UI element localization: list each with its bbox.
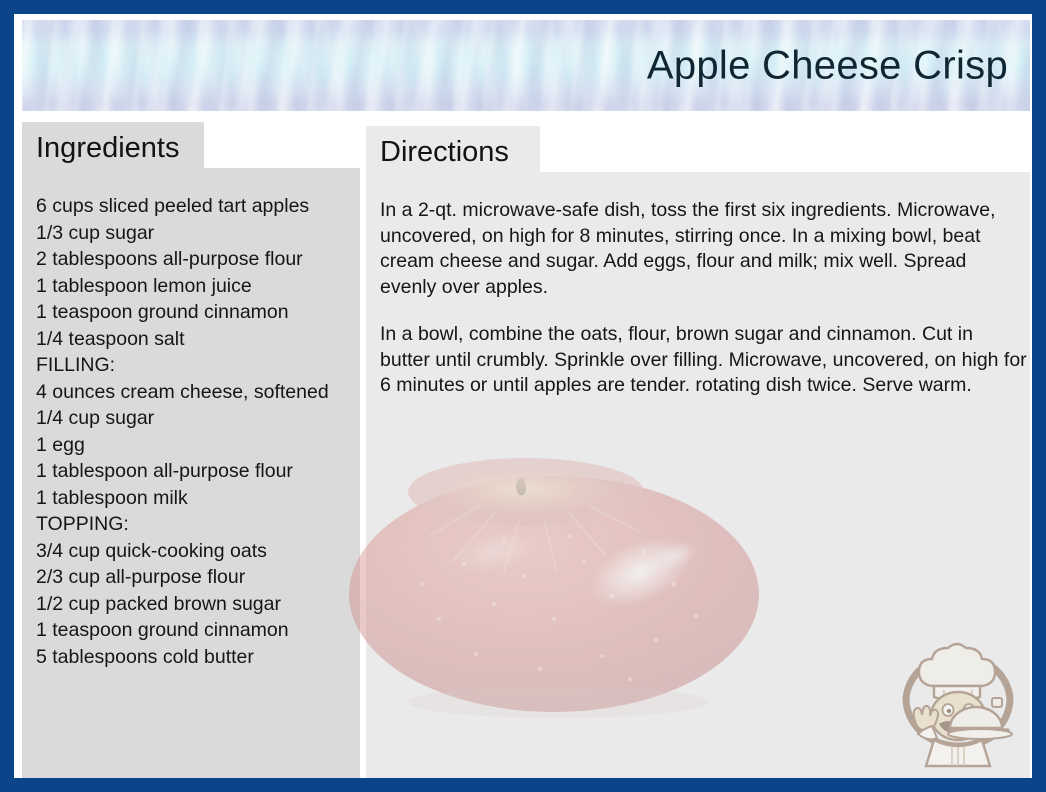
list-item: 2/3 cup all-purpose flour (36, 564, 366, 591)
list-item: 1 tablespoon all-purpose flour (36, 458, 366, 485)
list-item: 4 ounces cream cheese, softened (36, 379, 366, 406)
list-item: 1 teaspoon ground cinnamon (36, 617, 366, 644)
directions-body: In a 2-qt. microwave-safe dish, toss the… (380, 198, 1028, 399)
list-item: 1/4 cup sugar (36, 405, 366, 432)
header-banner: Apple Cheese Crisp (22, 20, 1030, 111)
list-item: TOPPING: (36, 511, 366, 538)
page-title: Apple Cheese Crisp (647, 43, 1008, 88)
border-right (1032, 0, 1046, 792)
list-item: 2 tablespoons all-purpose flour (36, 246, 366, 273)
list-item: 6 cups sliced peeled tart apples (36, 193, 366, 220)
list-item: 1/3 cup sugar (36, 220, 366, 247)
list-item: 1/2 cup packed brown sugar (36, 591, 366, 618)
directions-paragraph: In a bowl, combine the oats, flour, brow… (380, 322, 1028, 399)
ingredients-heading: Ingredients (36, 132, 180, 165)
list-item: 5 tablespoons cold butter (36, 644, 366, 671)
border-left (0, 0, 14, 792)
directions-paragraph: In a 2-qt. microwave-safe dish, toss the… (380, 198, 1028, 300)
directions-heading: Directions (380, 136, 509, 169)
page-surface: Apple Cheese Crisp (14, 14, 1032, 778)
recipe-card: Apple Cheese Crisp (0, 0, 1046, 792)
list-item: 1 tablespoon milk (36, 485, 366, 512)
list-item: 1 egg (36, 432, 366, 459)
list-item: 3/4 cup quick-cooking oats (36, 538, 366, 565)
list-item: FILLING: (36, 352, 366, 379)
ingredients-list: 6 cups sliced peeled tart apples 1/3 cup… (36, 193, 366, 670)
list-item: 1 tablespoon lemon juice (36, 273, 366, 300)
border-top (0, 0, 1046, 14)
list-item: 1/4 teaspoon salt (36, 326, 366, 353)
list-item: 1 teaspoon ground cinnamon (36, 299, 366, 326)
border-bottom (0, 778, 1046, 792)
